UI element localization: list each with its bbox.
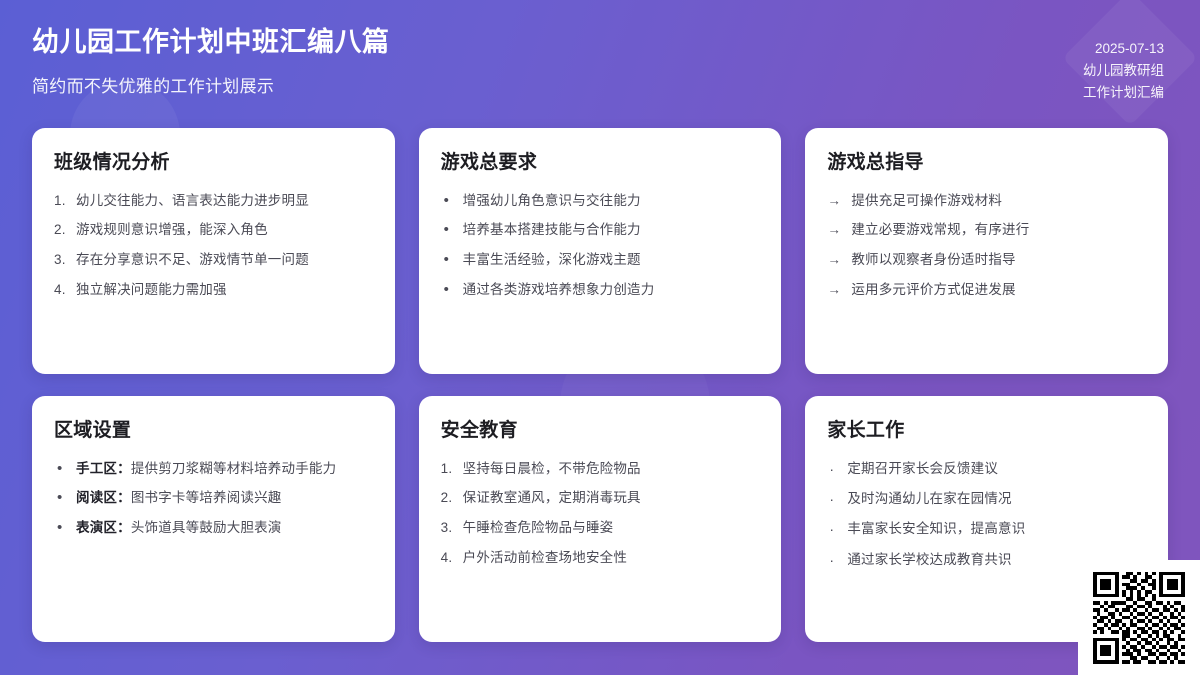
list-marker-icon: · — [827, 551, 840, 570]
list-item-text: 定期召开家长会反馈建议 — [847, 460, 1146, 479]
card-list: 1.幼儿交往能力、语言表达能力进步明显2.游戏规则意识增强，能深入角色3.存在分… — [54, 192, 373, 300]
list-item-body: 建立必要游戏常规，有序进行 — [851, 222, 1029, 237]
list-item-body: 丰富生活经验，深化游戏主题 — [463, 252, 641, 267]
list-item-body: 运用多元评价方式促进发展 — [851, 282, 1015, 297]
list-item: →教师以观察者身份适时指导 — [827, 251, 1146, 270]
list-item: 3.存在分享意识不足、游戏情节单一问题 — [54, 251, 373, 270]
list-item-body: 保证教室通风，定期消毒玩具 — [463, 490, 641, 505]
list-marker-icon: • — [441, 221, 456, 239]
list-item: •通过各类游戏培养想象力创造力 — [441, 281, 760, 300]
card-title: 班级情况分析 — [54, 152, 373, 175]
slide-root: 幼儿园工作计划中班汇编八篇 简约而不失优雅的工作计划展示 2025-07-13 … — [0, 0, 1200, 675]
list-item: ·丰富家长安全知识，提高意识 — [827, 520, 1146, 539]
list-marker-icon: 1. — [54, 192, 69, 211]
list-item-text: 阅读区：图书字卡等培养阅读兴趣 — [76, 489, 373, 508]
list-item-label: 阅读区： — [76, 490, 131, 505]
list-item: •手工区：提供剪刀浆糊等材料培养动手能力 — [54, 460, 373, 479]
header-meta: 2025-07-13 幼儿园教研组 工作计划汇编 — [1083, 26, 1164, 104]
list-item-text: 运用多元评价方式促进发展 — [851, 281, 1146, 300]
qr-cell — [1181, 660, 1185, 664]
list-item: 2.保证教室通风，定期消毒玩具 — [441, 489, 760, 508]
card-list: •增强幼儿角色意识与交往能力•培养基本搭建技能与合作能力•丰富生活经验，深化游戏… — [441, 192, 760, 300]
list-marker-icon: • — [54, 489, 69, 507]
list-item-body: 存在分享意识不足、游戏情节单一问题 — [76, 252, 309, 267]
list-item: •培养基本搭建技能与合作能力 — [441, 221, 760, 240]
list-item-text: 及时沟通幼儿在家在园情况 — [847, 490, 1146, 509]
list-marker-icon: → — [827, 281, 844, 300]
list-item: 1.幼儿交往能力、语言表达能力进步明显 — [54, 192, 373, 211]
list-item-body: 增强幼儿角色意识与交往能力 — [463, 193, 641, 208]
list-item-label: 手工区： — [76, 461, 131, 476]
list-marker-icon: → — [827, 251, 844, 270]
list-item-text: 增强幼儿角色意识与交往能力 — [463, 192, 760, 211]
page-subtitle: 简约而不失优雅的工作计划展示 — [32, 72, 390, 97]
list-item: 3.午睡检查危险物品与睡姿 — [441, 519, 760, 538]
list-item-text: 丰富家长安全知识，提高意识 — [847, 520, 1146, 539]
list-item-text: 建立必要游戏常规，有序进行 — [851, 221, 1146, 240]
list-item-text: 幼儿交往能力、语言表达能力进步明显 — [76, 192, 373, 211]
list-item-body: 坚持每日晨检，不带危险物品 — [463, 461, 641, 476]
header-left: 幼儿园工作计划中班汇编八篇 简约而不失优雅的工作计划展示 — [32, 26, 390, 97]
list-item: ·定期召开家长会反馈建议 — [827, 460, 1146, 479]
qr-code-panel — [1078, 560, 1200, 675]
card-title: 游戏总指导 — [827, 152, 1146, 175]
list-item-text: 丰富生活经验，深化游戏主题 — [463, 251, 760, 270]
card-list: →提供充足可操作游戏材料→建立必要游戏常规，有序进行→教师以观察者身份适时指导→… — [827, 192, 1146, 300]
list-item: 2.游戏规则意识增强，能深入角色 — [54, 221, 373, 240]
list-marker-icon: 4. — [54, 281, 69, 300]
list-item-text: 午睡检查危险物品与睡姿 — [463, 519, 760, 538]
list-item: •增强幼儿角色意识与交往能力 — [441, 192, 760, 211]
card-title: 游戏总要求 — [441, 152, 760, 175]
list-item-text: 保证教室通风，定期消毒玩具 — [463, 489, 760, 508]
list-item: →提供充足可操作游戏材料 — [827, 192, 1146, 211]
card: 安全教育1.坚持每日晨检，不带危险物品2.保证教室通风，定期消毒玩具3.午睡检查… — [419, 396, 782, 642]
page-title: 幼儿园工作计划中班汇编八篇 — [32, 26, 390, 60]
list-marker-icon: • — [441, 281, 456, 299]
list-item-body: 提供充足可操作游戏材料 — [851, 193, 1002, 208]
list-marker-icon: 3. — [54, 251, 69, 270]
list-item-body: 教师以观察者身份适时指导 — [851, 252, 1015, 267]
list-item-body: 午睡检查危险物品与睡姿 — [463, 520, 614, 535]
list-item: 1.坚持每日晨检，不带危险物品 — [441, 460, 760, 479]
list-item: 4.户外活动前检查场地安全性 — [441, 549, 760, 568]
list-item: •阅读区：图书字卡等培养阅读兴趣 — [54, 489, 373, 508]
list-marker-icon: · — [827, 460, 840, 479]
list-item-body: 提供剪刀浆糊等材料培养动手能力 — [131, 461, 337, 476]
list-item: →建立必要游戏常规，有序进行 — [827, 221, 1146, 240]
card: 游戏总要求•增强幼儿角色意识与交往能力•培养基本搭建技能与合作能力•丰富生活经验… — [419, 128, 782, 374]
list-item-body: 幼儿交往能力、语言表达能力进步明显 — [76, 193, 309, 208]
list-item-text: 户外活动前检查场地安全性 — [463, 549, 760, 568]
meta-collection: 工作计划汇编 — [1083, 82, 1164, 104]
list-marker-icon: • — [441, 251, 456, 269]
slide-header: 幼儿园工作计划中班汇编八篇 简约而不失优雅的工作计划展示 2025-07-13 … — [0, 0, 1200, 120]
card-list: 1.坚持每日晨检，不带危险物品2.保证教室通风，定期消毒玩具3.午睡检查危险物品… — [441, 460, 760, 568]
qr-code[interactable] — [1093, 572, 1185, 664]
list-marker-icon: → — [827, 221, 844, 240]
list-marker-icon: 3. — [441, 519, 456, 538]
card-title: 安全教育 — [441, 420, 760, 443]
list-item-body: 定期召开家长会反馈建议 — [847, 461, 998, 476]
list-marker-icon: 2. — [441, 489, 456, 508]
list-marker-icon: · — [827, 490, 840, 509]
list-marker-icon: • — [441, 192, 456, 210]
list-item-body: 头饰道具等鼓励大胆表演 — [131, 520, 282, 535]
card-grid: 班级情况分析1.幼儿交往能力、语言表达能力进步明显2.游戏规则意识增强，能深入角… — [32, 128, 1168, 642]
list-item-text: 独立解决问题能力需加强 — [76, 281, 373, 300]
list-marker-icon: • — [54, 460, 69, 478]
list-item-text: 存在分享意识不足、游戏情节单一问题 — [76, 251, 373, 270]
list-item-body: 游戏规则意识增强，能深入角色 — [76, 222, 268, 237]
list-item-text: 教师以观察者身份适时指导 — [851, 251, 1146, 270]
list-item-text: 手工区：提供剪刀浆糊等材料培养动手能力 — [76, 460, 373, 479]
list-marker-icon: • — [54, 519, 69, 537]
list-item-text: 通过各类游戏培养想象力创造力 — [463, 281, 760, 300]
list-item-label: 表演区： — [76, 520, 131, 535]
list-marker-icon: 4. — [441, 549, 456, 568]
list-marker-icon: → — [827, 192, 844, 211]
card-title: 家长工作 — [827, 420, 1146, 443]
list-item: •丰富生活经验，深化游戏主题 — [441, 251, 760, 270]
list-item-body: 丰富家长安全知识，提高意识 — [847, 521, 1025, 536]
list-item-text: 坚持每日晨检，不带危险物品 — [463, 460, 760, 479]
list-item: ·及时沟通幼儿在家在园情况 — [827, 490, 1146, 509]
meta-org: 幼儿园教研组 — [1083, 60, 1164, 82]
meta-date: 2025-07-13 — [1083, 38, 1164, 60]
list-item-body: 户外活动前检查场地安全性 — [463, 550, 627, 565]
list-item-body: 图书字卡等培养阅读兴趣 — [131, 490, 282, 505]
card-title: 区域设置 — [54, 420, 373, 443]
list-item-body: 独立解决问题能力需加强 — [76, 282, 227, 297]
list-marker-icon: 1. — [441, 460, 456, 479]
card: 游戏总指导→提供充足可操作游戏材料→建立必要游戏常规，有序进行→教师以观察者身份… — [805, 128, 1168, 374]
card: 班级情况分析1.幼儿交往能力、语言表达能力进步明显2.游戏规则意识增强，能深入角… — [32, 128, 395, 374]
card: 区域设置•手工区：提供剪刀浆糊等材料培养动手能力•阅读区：图书字卡等培养阅读兴趣… — [32, 396, 395, 642]
list-item-body: 通过家长学校达成教育共识 — [847, 552, 1011, 567]
card-list: ·定期召开家长会反馈建议·及时沟通幼儿在家在园情况·丰富家长安全知识，提高意识·… — [827, 460, 1146, 570]
list-marker-icon: 2. — [54, 221, 69, 240]
card-list: •手工区：提供剪刀浆糊等材料培养动手能力•阅读区：图书字卡等培养阅读兴趣•表演区… — [54, 460, 373, 538]
list-marker-icon: · — [827, 520, 840, 539]
list-item-text: 游戏规则意识增强，能深入角色 — [76, 221, 373, 240]
list-item-text: 表演区：头饰道具等鼓励大胆表演 — [76, 519, 373, 538]
list-item-body: 及时沟通幼儿在家在园情况 — [847, 491, 1011, 506]
list-item: →运用多元评价方式促进发展 — [827, 281, 1146, 300]
list-item: •表演区：头饰道具等鼓励大胆表演 — [54, 519, 373, 538]
list-item-body: 培养基本搭建技能与合作能力 — [463, 222, 641, 237]
list-item-text: 培养基本搭建技能与合作能力 — [463, 221, 760, 240]
list-item-text: 提供充足可操作游戏材料 — [851, 192, 1146, 211]
list-item: 4.独立解决问题能力需加强 — [54, 281, 373, 300]
list-item-body: 通过各类游戏培养想象力创造力 — [463, 282, 655, 297]
